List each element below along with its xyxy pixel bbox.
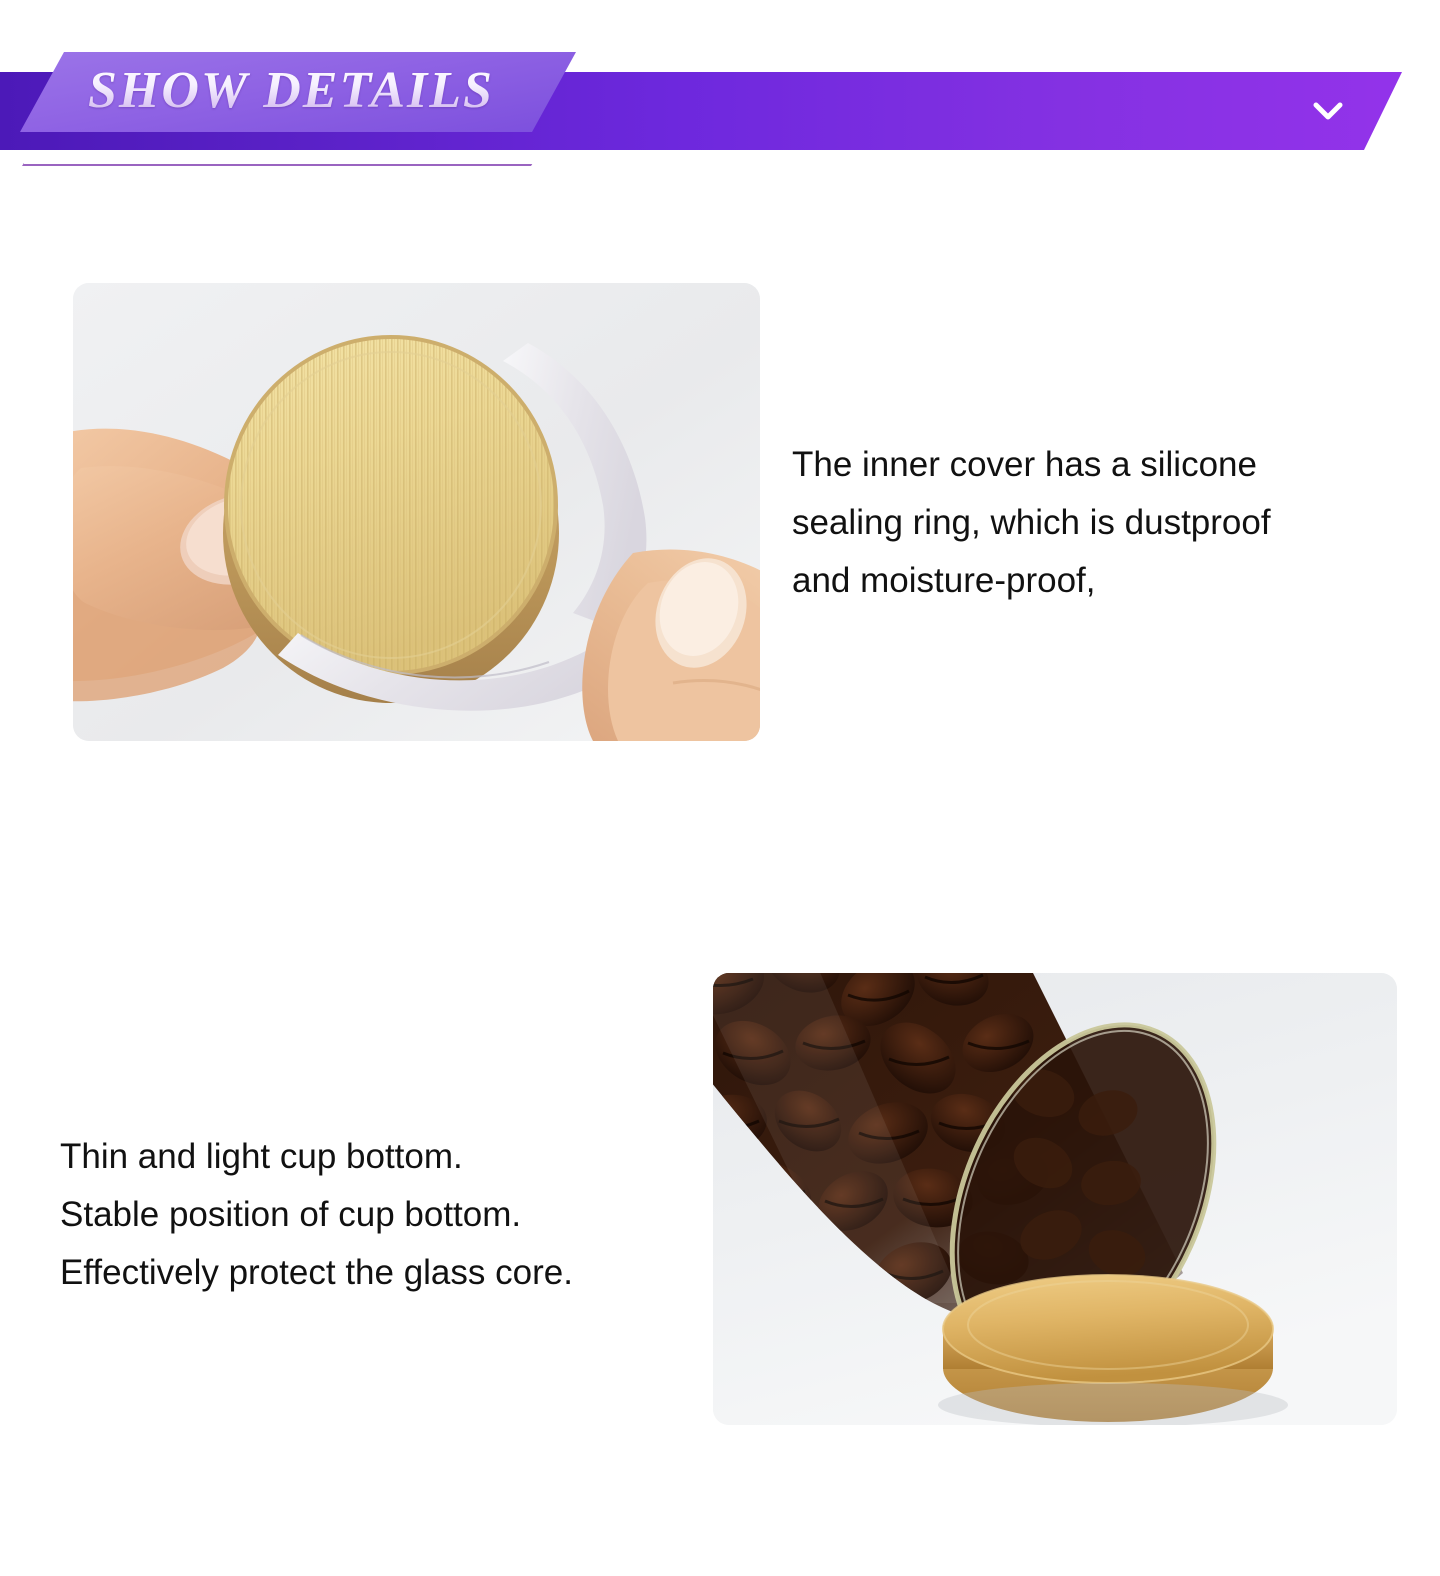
product-photo-inner-cover (73, 283, 760, 741)
caption-line: sealing ring, which is dustproof (792, 494, 1432, 552)
caption-line: Stable position of cup bottom. (60, 1186, 720, 1244)
caption-line: Thin and light cup bottom. (60, 1128, 720, 1186)
product-photo-cup-bottom (713, 973, 1397, 1425)
show-details-banner[interactable]: SHOW DETAILS (0, 0, 1440, 185)
caption-line: Effectively protect the glass core. (60, 1244, 720, 1302)
caption-line: The inner cover has a silicone (792, 436, 1432, 494)
banner-title: SHOW DETAILS (88, 60, 494, 122)
caption-line: and moisture-proof, (792, 552, 1432, 610)
chevron-down-icon[interactable] (1310, 96, 1346, 126)
caption-inner-cover: The inner cover has a silicone sealing r… (792, 436, 1432, 610)
caption-cup-bottom: Thin and light cup bottom. Stable positi… (60, 1128, 720, 1302)
